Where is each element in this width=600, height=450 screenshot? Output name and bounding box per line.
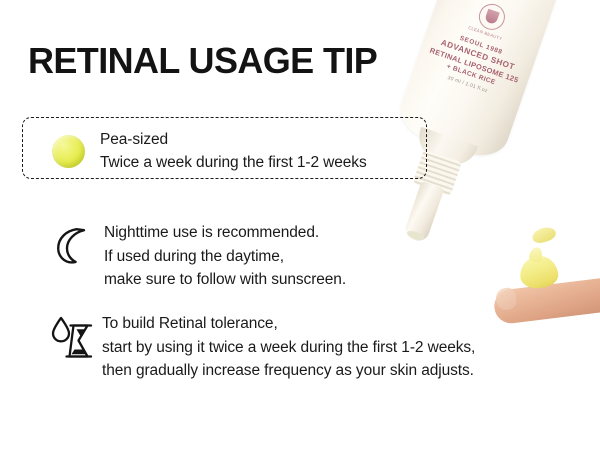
pea-line-2: Twice a week during the first 1-2 weeks — [100, 151, 367, 174]
tube-label-line-1: SEOUL 1988 — [433, 26, 530, 65]
tube-emblem-caption: CLEAN BEAUTY — [456, 21, 514, 45]
tube-label-line-3: RETINAL LIPOSOME 125 — [425, 45, 522, 86]
tube-label-line-4: + BLACK RICE — [423, 55, 520, 94]
tolerance-line-3: then gradually increase frequency as you… — [102, 359, 475, 383]
tube-nozzle — [403, 181, 445, 244]
tip-row-nighttime: Nighttime use is recommended. If used du… — [52, 222, 346, 293]
droplet-hourglass-icon — [46, 313, 96, 363]
tube-emblem-inner — [484, 9, 500, 25]
nighttime-line-3: make sure to follow with sunscreen. — [104, 268, 346, 292]
retinal-usage-tip-poster: RETINAL USAGE TIP SEOUL CLEAN BEAUTY SEO… — [0, 0, 600, 450]
tube-emblem-icon — [475, 0, 508, 33]
pea-line-1: Pea-sized — [100, 128, 367, 151]
fingernail-shape — [495, 287, 518, 311]
tip-row-pea-sized: Pea-sized Twice a week during the first … — [48, 128, 367, 174]
tip-row-pea-sized-text: Pea-sized Twice a week during the first … — [100, 128, 367, 174]
tip-row-nighttime-text: Nighttime use is recommended. If used du… — [104, 221, 346, 292]
nighttime-line-2: If used during the daytime, — [104, 245, 346, 269]
tip-row-tolerance: To build Retinal tolerance, start by usi… — [46, 312, 475, 383]
fingertip-cream-image — [474, 252, 600, 352]
tube-brand-text: SEOUL — [465, 0, 557, 18]
pea-sphere-icon — [48, 131, 88, 171]
page-title: RETINAL USAGE TIP — [28, 40, 377, 82]
cream-chip — [531, 225, 558, 245]
finger-shape — [492, 277, 600, 325]
tolerance-line-2: start by using it twice a week during th… — [102, 336, 475, 360]
crescent-moon-icon — [52, 224, 94, 268]
tube-label-text: SEOUL 1988 ADVANCED SHOT RETINAL LIPOSOM… — [419, 26, 529, 104]
tolerance-line-1: To build Retinal tolerance, — [102, 312, 475, 336]
nighttime-line-1: Nighttime use is recommended. — [104, 221, 346, 245]
tube-label-line-2: ADVANCED SHOT — [429, 34, 526, 75]
tip-row-tolerance-text: To build Retinal tolerance, start by usi… — [102, 312, 475, 383]
tube-label-line-5: 30 ml / 1.01 fl.oz — [419, 65, 516, 103]
cream-dollop — [519, 254, 560, 289]
